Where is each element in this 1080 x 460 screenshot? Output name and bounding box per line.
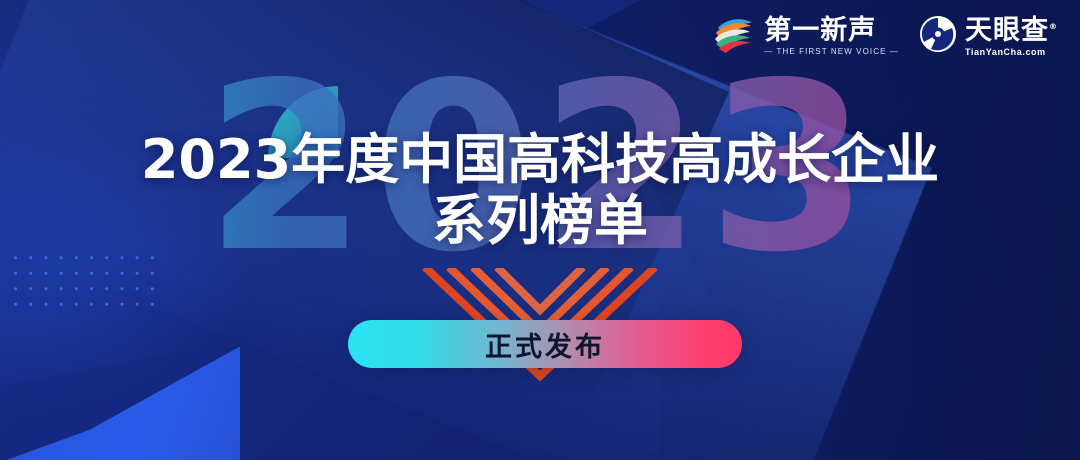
diyixinsheng-wordmark: 第一新声 — THE FIRST NEW VOICE — (764, 17, 899, 56)
tianyancha-eye-icon (919, 15, 957, 58)
release-status-label: 正式发布 (485, 325, 605, 364)
release-status-badge: 正式发布 (348, 320, 742, 368)
diyixinsheng-name: 第一新声 (764, 17, 899, 44)
title-line-1: 2023年度中国高科技高成长企业 (0, 131, 1080, 189)
diyixinsheng-swoosh-icon (712, 14, 756, 59)
trademark-symbol: ® (1049, 22, 1058, 31)
page-title: 2023年度中国高科技高成长企业 系列榜单 (0, 131, 1080, 253)
diyixinsheng-tagline: — THE FIRST NEW VOICE — (764, 48, 899, 56)
triangle-bottom-left (0, 336, 240, 460)
promo-banner: 2023 2023年度中国高科技高成长企业 系列榜单 正式发布 (0, 0, 1080, 460)
logo-tianyancha[interactable]: 天眼查® TianYanCha.com (919, 15, 1058, 58)
tianyancha-wordmark: 天眼查® TianYanCha.com (965, 17, 1058, 57)
title-line-2: 系列榜单 (0, 189, 1080, 253)
triangle-shadow-bottom-left (0, 336, 240, 460)
tianyancha-tagline: TianYanCha.com (965, 48, 1058, 57)
logo-diyixinsheng[interactable]: 第一新声 — THE FIRST NEW VOICE — (712, 14, 899, 59)
logo-group: 第一新声 — THE FIRST NEW VOICE — 天眼查® TianYa… (712, 14, 1058, 59)
tianyancha-name: 天眼查® (965, 17, 1058, 44)
